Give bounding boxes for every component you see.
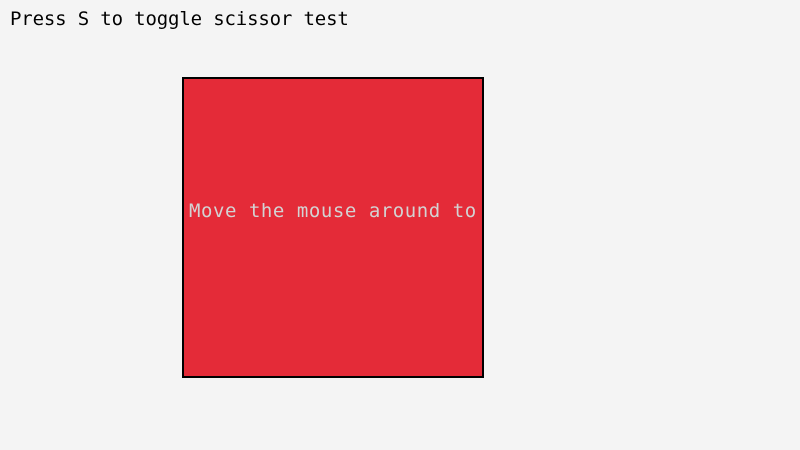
toggle-scissor-hint-text: Press S to toggle scissor test <box>10 8 349 30</box>
scissor-area-rectangle[interactable]: Move the mouse around to r <box>182 77 484 378</box>
scissor-clipped-message: Move the mouse around to r <box>189 200 484 222</box>
scissor-test-canvas[interactable]: Press S to toggle scissor test Move the … <box>0 0 800 450</box>
